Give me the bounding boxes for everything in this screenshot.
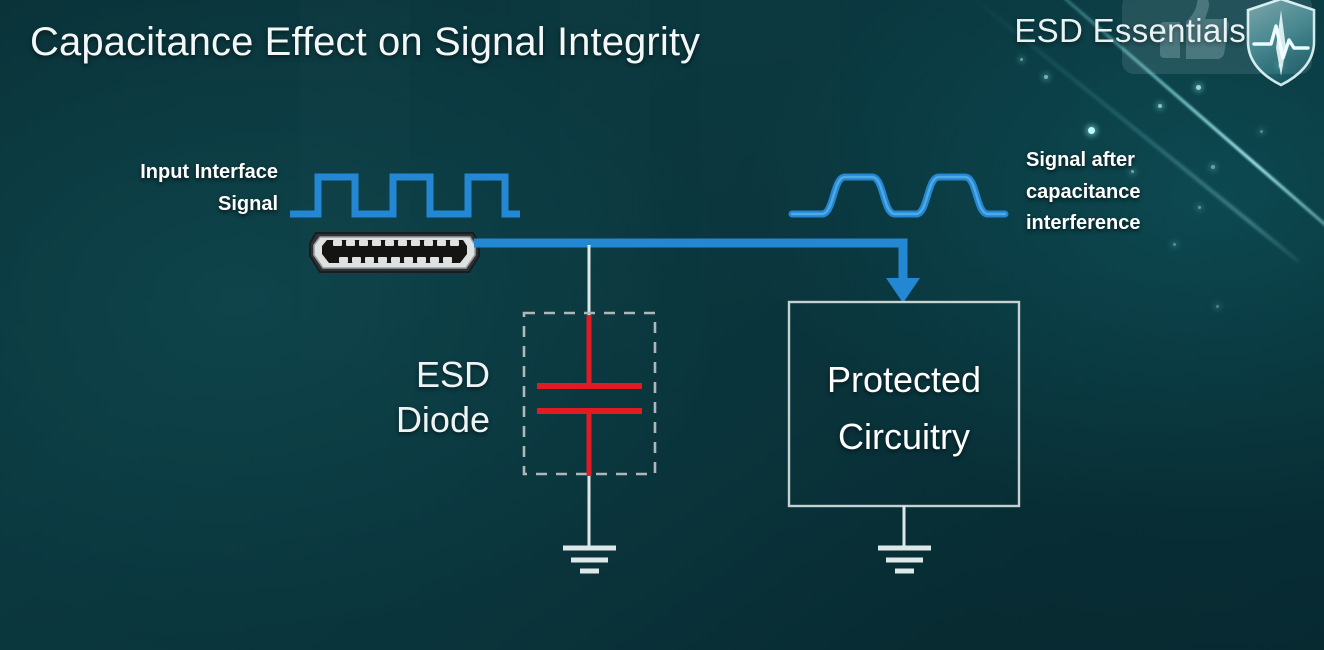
circuit-diagram	[0, 0, 1324, 650]
arrow-down-icon	[886, 278, 920, 303]
hdmi-connector-icon	[310, 233, 479, 272]
esd-diode-label: ESD Diode	[380, 352, 490, 443]
protected-circuitry-label: Protected Circuitry	[790, 352, 1018, 466]
protected-circuitry-label-line2: Circuitry	[790, 409, 1018, 466]
protected-circuitry-label-line1: Protected	[790, 352, 1018, 409]
ground-icon-left	[563, 548, 616, 571]
output-waveform-rounded	[792, 177, 1005, 214]
slide-canvas: Capacitance Effect on Signal Integrity E…	[0, 0, 1324, 650]
signal-trace	[474, 243, 920, 303]
esd-diode-label-line1: ESD	[380, 352, 490, 397]
input-waveform-square	[290, 177, 520, 214]
ground-icon-right	[878, 548, 931, 571]
esd-diode-label-line2: Diode	[380, 397, 490, 442]
capacitor-icon	[537, 315, 642, 476]
